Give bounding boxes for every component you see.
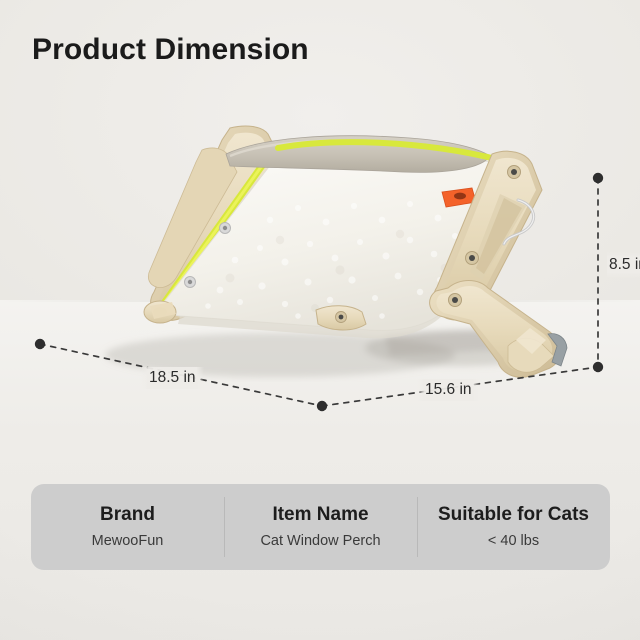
info-value-brand: MewooFun bbox=[92, 533, 164, 550]
info-cell-suitable-for-cats: Suitable for Cats < 40 lbs bbox=[417, 484, 610, 570]
info-label-suitable-for-cats: Suitable for Cats bbox=[438, 503, 589, 527]
info-label-item-name: Item Name bbox=[272, 503, 368, 527]
info-value-item-name: Cat Window Perch bbox=[260, 533, 380, 550]
info-cell-brand: Brand MewooFun bbox=[31, 484, 224, 570]
product-dimension-infographic: Product Dimension bbox=[0, 0, 640, 640]
info-label-brand: Brand bbox=[100, 503, 155, 527]
info-cell-item-name: Item Name Cat Window Perch bbox=[224, 484, 417, 570]
info-value-suitable-for-cats: < 40 lbs bbox=[488, 533, 539, 550]
product-info-bar: Brand MewooFun Item Name Cat Window Perc… bbox=[31, 484, 610, 570]
